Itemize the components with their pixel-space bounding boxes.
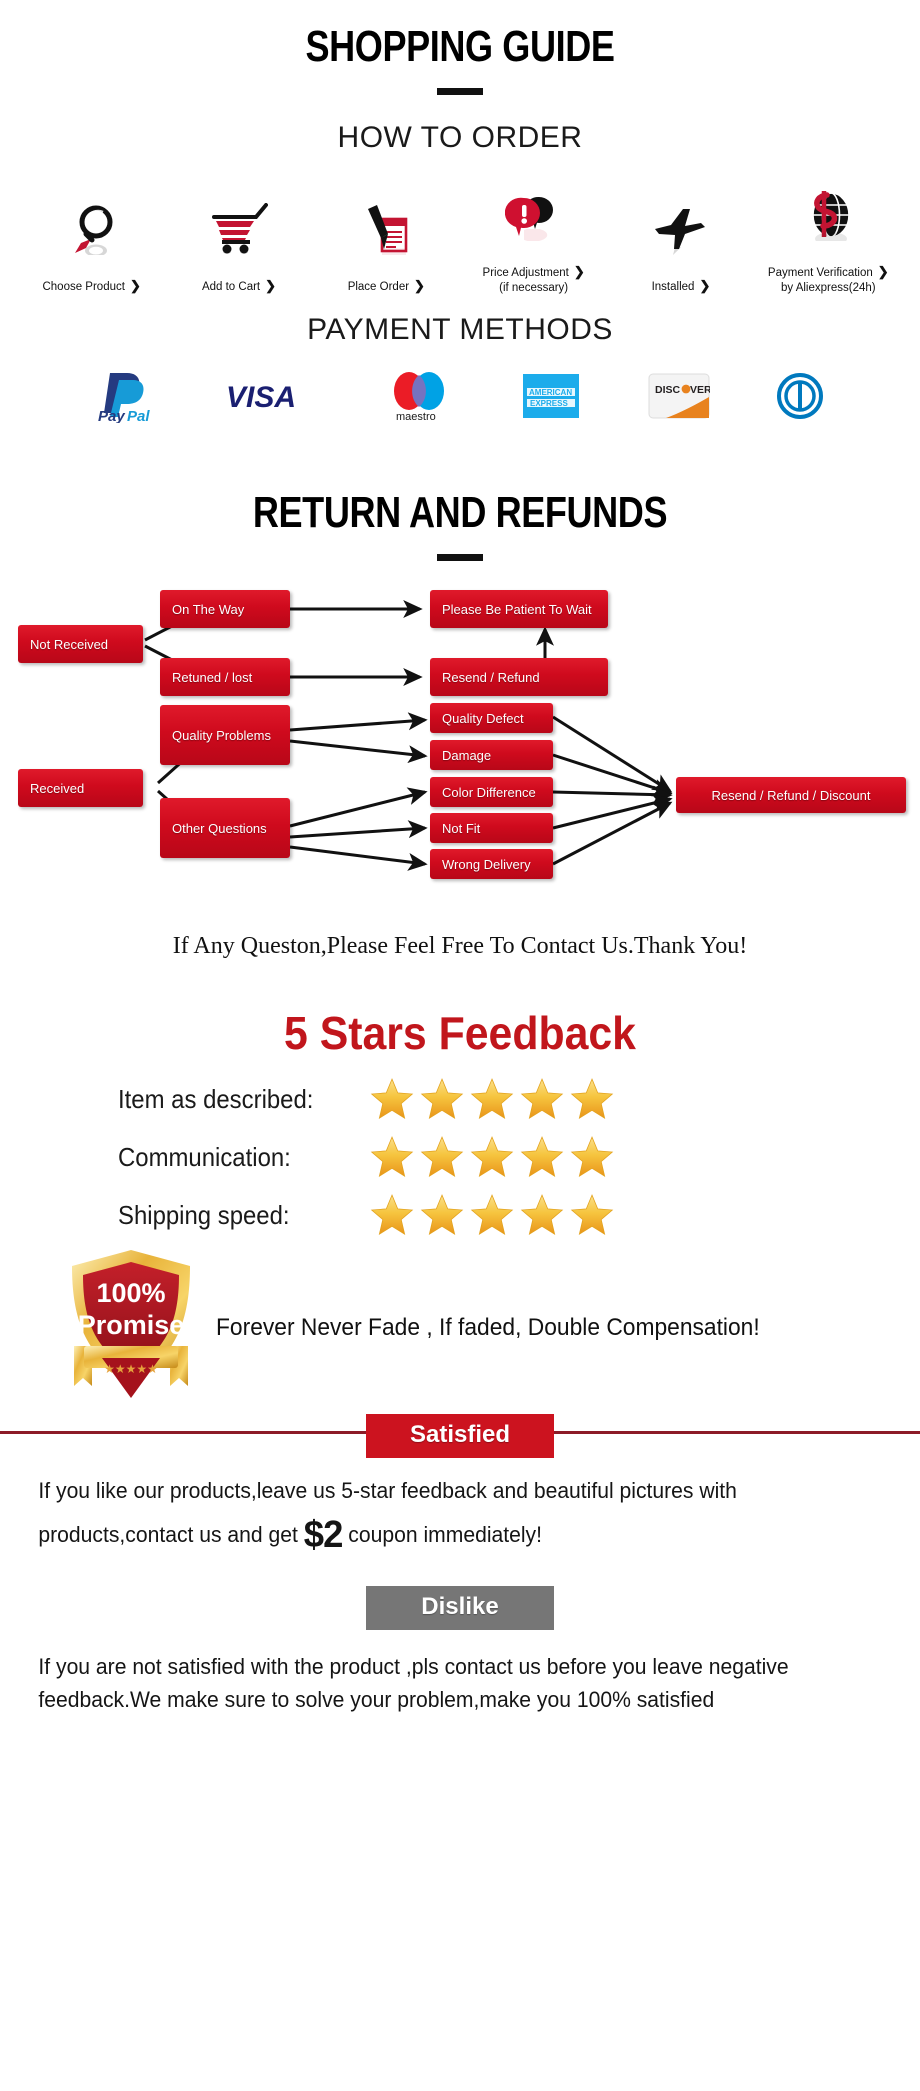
flow-box-on-the-way[interactable]: On The Way	[160, 590, 290, 628]
chevron-right-icon: ❯	[265, 278, 276, 293]
order-step-add-to-cart[interactable]: Add to Cart❯	[165, 189, 312, 295]
dollar-globe-icon-reflection	[755, 229, 902, 241]
star-icon	[418, 1192, 466, 1238]
diners-club-logo	[776, 372, 824, 425]
flow-box-resend-refund-discount[interactable]: Resend / Refund / Discount	[676, 777, 906, 813]
visa-logo: VISA	[224, 376, 316, 421]
dislike-text: If you are not satisfied with the produc…	[0, 1650, 883, 1716]
order-step-sublabel: by Aliexpress(24h)	[755, 281, 902, 295]
rating-label: Communication:	[118, 1142, 348, 1173]
svg-text:maestro: maestro	[396, 411, 436, 423]
chevron-right-icon: ❯	[699, 278, 710, 293]
star-icon	[518, 1076, 566, 1122]
promise-badge: 100% Promise ★★★★★	[62, 1246, 200, 1409]
flow-box-wrong-delivery[interactable]: Wrong Delivery	[430, 849, 553, 879]
star-icon	[518, 1192, 566, 1238]
svg-text:DISC: DISC	[655, 384, 681, 396]
star-icon	[468, 1134, 516, 1180]
flow-box-quality-defect[interactable]: Quality Defect	[430, 703, 553, 733]
speech-bubble-alert-icon-reflection	[460, 229, 607, 241]
coupon-amount: $2	[304, 1514, 343, 1556]
rating-label: Item as described:	[118, 1084, 348, 1115]
payment-logos-row: Pay Pal VISA maestro	[0, 369, 920, 428]
chevron-right-icon: ❯	[574, 264, 585, 279]
contact-us-line: If Any Queston,Please Feel Free To Conta…	[0, 933, 920, 960]
shopping-guide-header: SHOPPING GUIDE	[0, 0, 920, 95]
pen-document-icon-reflection	[313, 243, 460, 255]
svg-text:100%: 100%	[96, 1278, 165, 1308]
svg-text:Pal: Pal	[127, 408, 150, 423]
flow-box-received[interactable]: Received	[18, 769, 143, 807]
svg-text:VER: VER	[690, 384, 710, 396]
returns-flowchart: Not Received On The Way Retuned / lost P…	[0, 583, 920, 903]
page-title: SHOPPING GUIDE	[83, 22, 837, 72]
chevron-right-icon: ❯	[130, 278, 141, 293]
order-step-choose-product[interactable]: Choose Product❯	[18, 189, 165, 295]
star-icon	[568, 1134, 616, 1180]
star-icon	[518, 1134, 566, 1180]
rating-row-shipping-speed: Shipping speed:	[118, 1190, 920, 1240]
rating-row-communication: Communication:	[118, 1132, 920, 1182]
star-icon	[368, 1192, 416, 1238]
promise-text: Forever Never Fade , If faded, Double Co…	[216, 1312, 760, 1344]
star-icon	[468, 1076, 516, 1122]
payment-methods-section: PAYMENT METHODS Pay Pal VISA	[0, 313, 920, 428]
maestro-logo: maestro	[383, 369, 455, 428]
magnifier-icon-reflection	[18, 243, 165, 255]
order-step-installed[interactable]: Installed❯	[607, 189, 754, 295]
title-underline	[437, 88, 483, 95]
star-icon	[468, 1192, 516, 1238]
chevron-right-icon: ❯	[414, 278, 425, 293]
shopping-cart-icon-reflection	[165, 243, 312, 255]
star-icon	[368, 1076, 416, 1122]
order-step-place-order[interactable]: Place Order❯	[313, 189, 460, 295]
feedback-title: 5 Stars Feedback	[32, 1006, 888, 1060]
star-icon	[568, 1192, 616, 1238]
flow-box-returned-lost[interactable]: Retuned / lost	[160, 658, 290, 696]
star-rating-shipping-speed	[368, 1192, 616, 1238]
chevron-right-icon: ❯	[878, 264, 889, 279]
rating-row-item-as-described: Item as described:	[118, 1074, 920, 1124]
dislike-tag: Dislike	[366, 1586, 554, 1630]
order-step-label: Payment Verification	[768, 266, 873, 280]
ratings-list: Item as described: Communication:	[0, 1074, 920, 1240]
flow-box-not-received[interactable]: Not Received	[18, 625, 143, 663]
return-refunds-title: RETURN AND REFUNDS	[83, 488, 837, 538]
svg-text:VISA: VISA	[226, 381, 296, 414]
svg-text:EXPRESS: EXPRESS	[530, 399, 568, 408]
order-step-label: Add to Cart	[202, 280, 260, 294]
airplane-icon-reflection	[607, 243, 754, 255]
order-step-label: Installed	[652, 280, 695, 294]
feedback-section: 5 Stars Feedback Item as described: Comm…	[0, 1006, 920, 1409]
star-icon	[418, 1134, 466, 1180]
star-rating-item-as-described	[368, 1076, 616, 1122]
star-icon	[418, 1076, 466, 1122]
paypal-logo: Pay Pal	[96, 369, 158, 428]
order-step-payment-verification[interactable]: Payment Verification❯ by Aliexpress(24h)	[755, 175, 902, 295]
how-to-order-heading: HOW TO ORDER	[0, 121, 920, 155]
flow-box-color-difference[interactable]: Color Difference	[430, 777, 553, 807]
order-step-label: Price Adjustment	[483, 266, 569, 280]
svg-text:★★★★★: ★★★★★	[104, 1362, 158, 1376]
star-icon	[568, 1076, 616, 1122]
svg-text:AMERICAN: AMERICAN	[529, 388, 572, 397]
flow-box-not-fit[interactable]: Not Fit	[430, 813, 553, 843]
promise-block: 100% Promise ★★★★★ Forever Never Fade , …	[0, 1246, 920, 1409]
star-icon	[368, 1134, 416, 1180]
rating-label: Shipping speed:	[118, 1200, 348, 1231]
american-express-logo: AMERICAN EXPRESS	[521, 372, 581, 425]
svg-text:Promise: Promise	[78, 1310, 185, 1340]
return-title-underline	[437, 554, 483, 561]
flow-box-other-questions[interactable]: Other Questions	[160, 798, 290, 858]
payment-methods-heading: PAYMENT METHODS	[0, 313, 920, 347]
order-step-sublabel: (if necessary)	[460, 281, 607, 295]
order-steps-row: Choose Product❯	[0, 175, 920, 295]
order-step-label: Choose Product	[42, 280, 124, 294]
flow-box-quality-problems[interactable]: Quality Problems	[160, 705, 290, 765]
star-rating-communication	[368, 1134, 616, 1180]
order-step-price-adjustment[interactable]: Price Adjustment❯ (if necessary)	[460, 175, 607, 295]
satisfied-text-after: coupon immediately!	[342, 1522, 542, 1547]
flow-box-damage[interactable]: Damage	[430, 740, 553, 770]
return-refunds-section: RETURN AND REFUNDS	[0, 488, 920, 561]
flow-box-please-be-patient[interactable]: Please Be Patient To Wait	[430, 590, 608, 628]
how-to-order-section: HOW TO ORDER Choose Product❯	[0, 121, 920, 295]
shopping-guide-page: SHOPPING GUIDE HOW TO ORDER Cho	[0, 0, 920, 2091]
satisfied-text: If you like our products,leave us 5-star…	[0, 1474, 883, 1564]
order-step-label: Place Order	[348, 280, 409, 294]
flow-box-resend-refund[interactable]: Resend / Refund	[430, 658, 608, 696]
svg-text:Pay: Pay	[98, 408, 125, 423]
discover-logo: DISC VER	[648, 373, 710, 424]
satisfied-tag: Satisfied	[366, 1414, 554, 1458]
